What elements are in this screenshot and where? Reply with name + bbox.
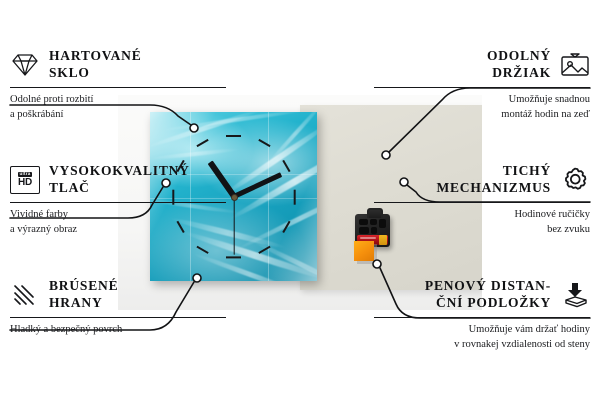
- clock-hour-marker: [293, 189, 295, 204]
- glass-seam: [268, 112, 269, 281]
- feature-title: TICHÝ MECHANIZMUS: [436, 163, 551, 197]
- mechanism-detail: [359, 219, 368, 225]
- feature-title: HARTOVANÉ SKLO: [49, 48, 142, 82]
- feature-header: HARTOVANÉ SKLO: [10, 48, 226, 82]
- foam-spacer-icon: [560, 280, 590, 310]
- foam-spacer-pad: [354, 241, 374, 261]
- feature-divider: [374, 202, 590, 203]
- feature-header: ODOLNÝ DRŽIAK: [374, 48, 590, 82]
- clock-hour-marker: [226, 135, 241, 137]
- feature-hardened-glass: HARTOVANÉ SKLO Odolné proti rozbití a po…: [10, 48, 226, 123]
- feature-title: PENOVÝ DISTAN- ČNÍ PODLOŽKY: [425, 278, 551, 312]
- feature-description: Umožňuje snadnou montáž hodin na zeď: [374, 93, 590, 123]
- ultra-hd-icon-main-label: HD: [18, 178, 32, 188]
- feature-divider: [10, 202, 226, 203]
- feature-beveled-edges: BRÚSENÉ HRANY Hladký a bezpečný povrch: [10, 278, 226, 338]
- feature-high-quality-print: ultra HD VYSOKOKVALITNÝ TLAČ Vividné far…: [10, 163, 226, 238]
- gear-icon: [560, 165, 590, 195]
- feature-title: BRÚSENÉ HRANY: [49, 278, 118, 312]
- picture-frame-icon: [560, 50, 590, 80]
- ultra-hd-icon: ultra HD: [10, 165, 40, 195]
- feature-divider: [374, 87, 590, 88]
- feature-header: PENOVÝ DISTAN- ČNÍ PODLOŽKY: [374, 278, 590, 312]
- feature-header: BRÚSENÉ HRANY: [10, 278, 226, 312]
- feature-divider: [10, 87, 226, 88]
- diamond-icon: [10, 50, 40, 80]
- feature-header: ultra HD VYSOKOKVALITNÝ TLAČ: [10, 163, 226, 197]
- feature-durable-holder: ODOLNÝ DRŽIAK Umožňuje snadnou montáž ho…: [374, 48, 590, 123]
- feature-header: TICHÝ MECHANIZMUS: [374, 163, 590, 197]
- clock-center-cap: [231, 194, 238, 201]
- feature-description: Umožňuje vám držať hodiny v rovnakej vzd…: [374, 323, 590, 353]
- feature-description: Odolné proti rozbití a poškrábání: [10, 93, 226, 123]
- beveled-edges-icon: [10, 280, 40, 310]
- feature-title: VYSOKOKVALITNÝ TLAČ: [49, 163, 190, 197]
- feature-description: Hodinové ručičky bez zvuku: [374, 208, 590, 238]
- feature-silent-mechanism: TICHÝ MECHANIZMUS Hodinové ručičky bez z…: [374, 163, 590, 238]
- clock-second-hand: [233, 196, 234, 254]
- clock-hour-marker: [226, 256, 241, 258]
- feature-foam-spacers: PENOVÝ DISTAN- ČNÍ PODLOŽKY Umožňuje vám…: [374, 278, 590, 353]
- feature-divider: [374, 317, 590, 318]
- feature-title: ODOLNÝ DRŽIAK: [487, 48, 551, 82]
- mechanism-detail: [359, 227, 369, 234]
- feature-description: Hladký a bezpečný povrch: [10, 323, 226, 338]
- feature-description: Vividné farby a výrazný obraz: [10, 208, 226, 238]
- product-infographic: HARTOVANÉ SKLO Odolné proti rozbití a po…: [0, 0, 600, 400]
- feature-divider: [10, 317, 226, 318]
